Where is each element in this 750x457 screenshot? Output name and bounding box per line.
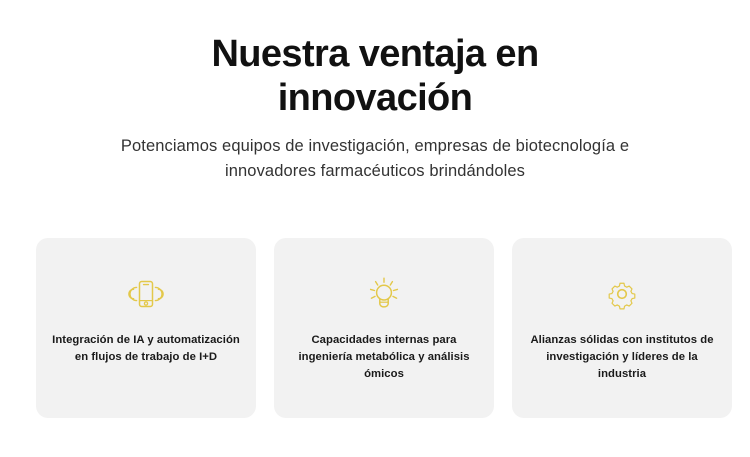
feature-card[interactable]: Alianzas sólidas con institutos de inves…: [512, 238, 732, 418]
feature-card-text: Capacidades internas para ingeniería met…: [288, 332, 480, 383]
page-header: Nuestra ventaja en innovación Potenciamo…: [0, 0, 750, 184]
feature-card[interactable]: Capacidades internas para ingeniería met…: [274, 238, 494, 418]
page-title: Nuestra ventaja en innovación: [145, 32, 605, 120]
gear-icon: [602, 274, 642, 314]
feature-card-list: Integración de IA y automatización en fl…: [36, 238, 732, 418]
page-root: Nuestra ventaja en innovación Potenciamo…: [0, 0, 750, 457]
lightbulb-idea-icon: [364, 274, 404, 314]
page-subtitle: Potenciamos equipos de investigación, em…: [115, 134, 635, 184]
feature-card[interactable]: Integración de IA y automatización en fl…: [36, 238, 256, 418]
feature-card-text: Integración de IA y automatización en fl…: [50, 332, 242, 366]
feature-card-text: Alianzas sólidas con institutos de inves…: [526, 332, 718, 383]
vibrating-phone-icon: [126, 274, 166, 314]
